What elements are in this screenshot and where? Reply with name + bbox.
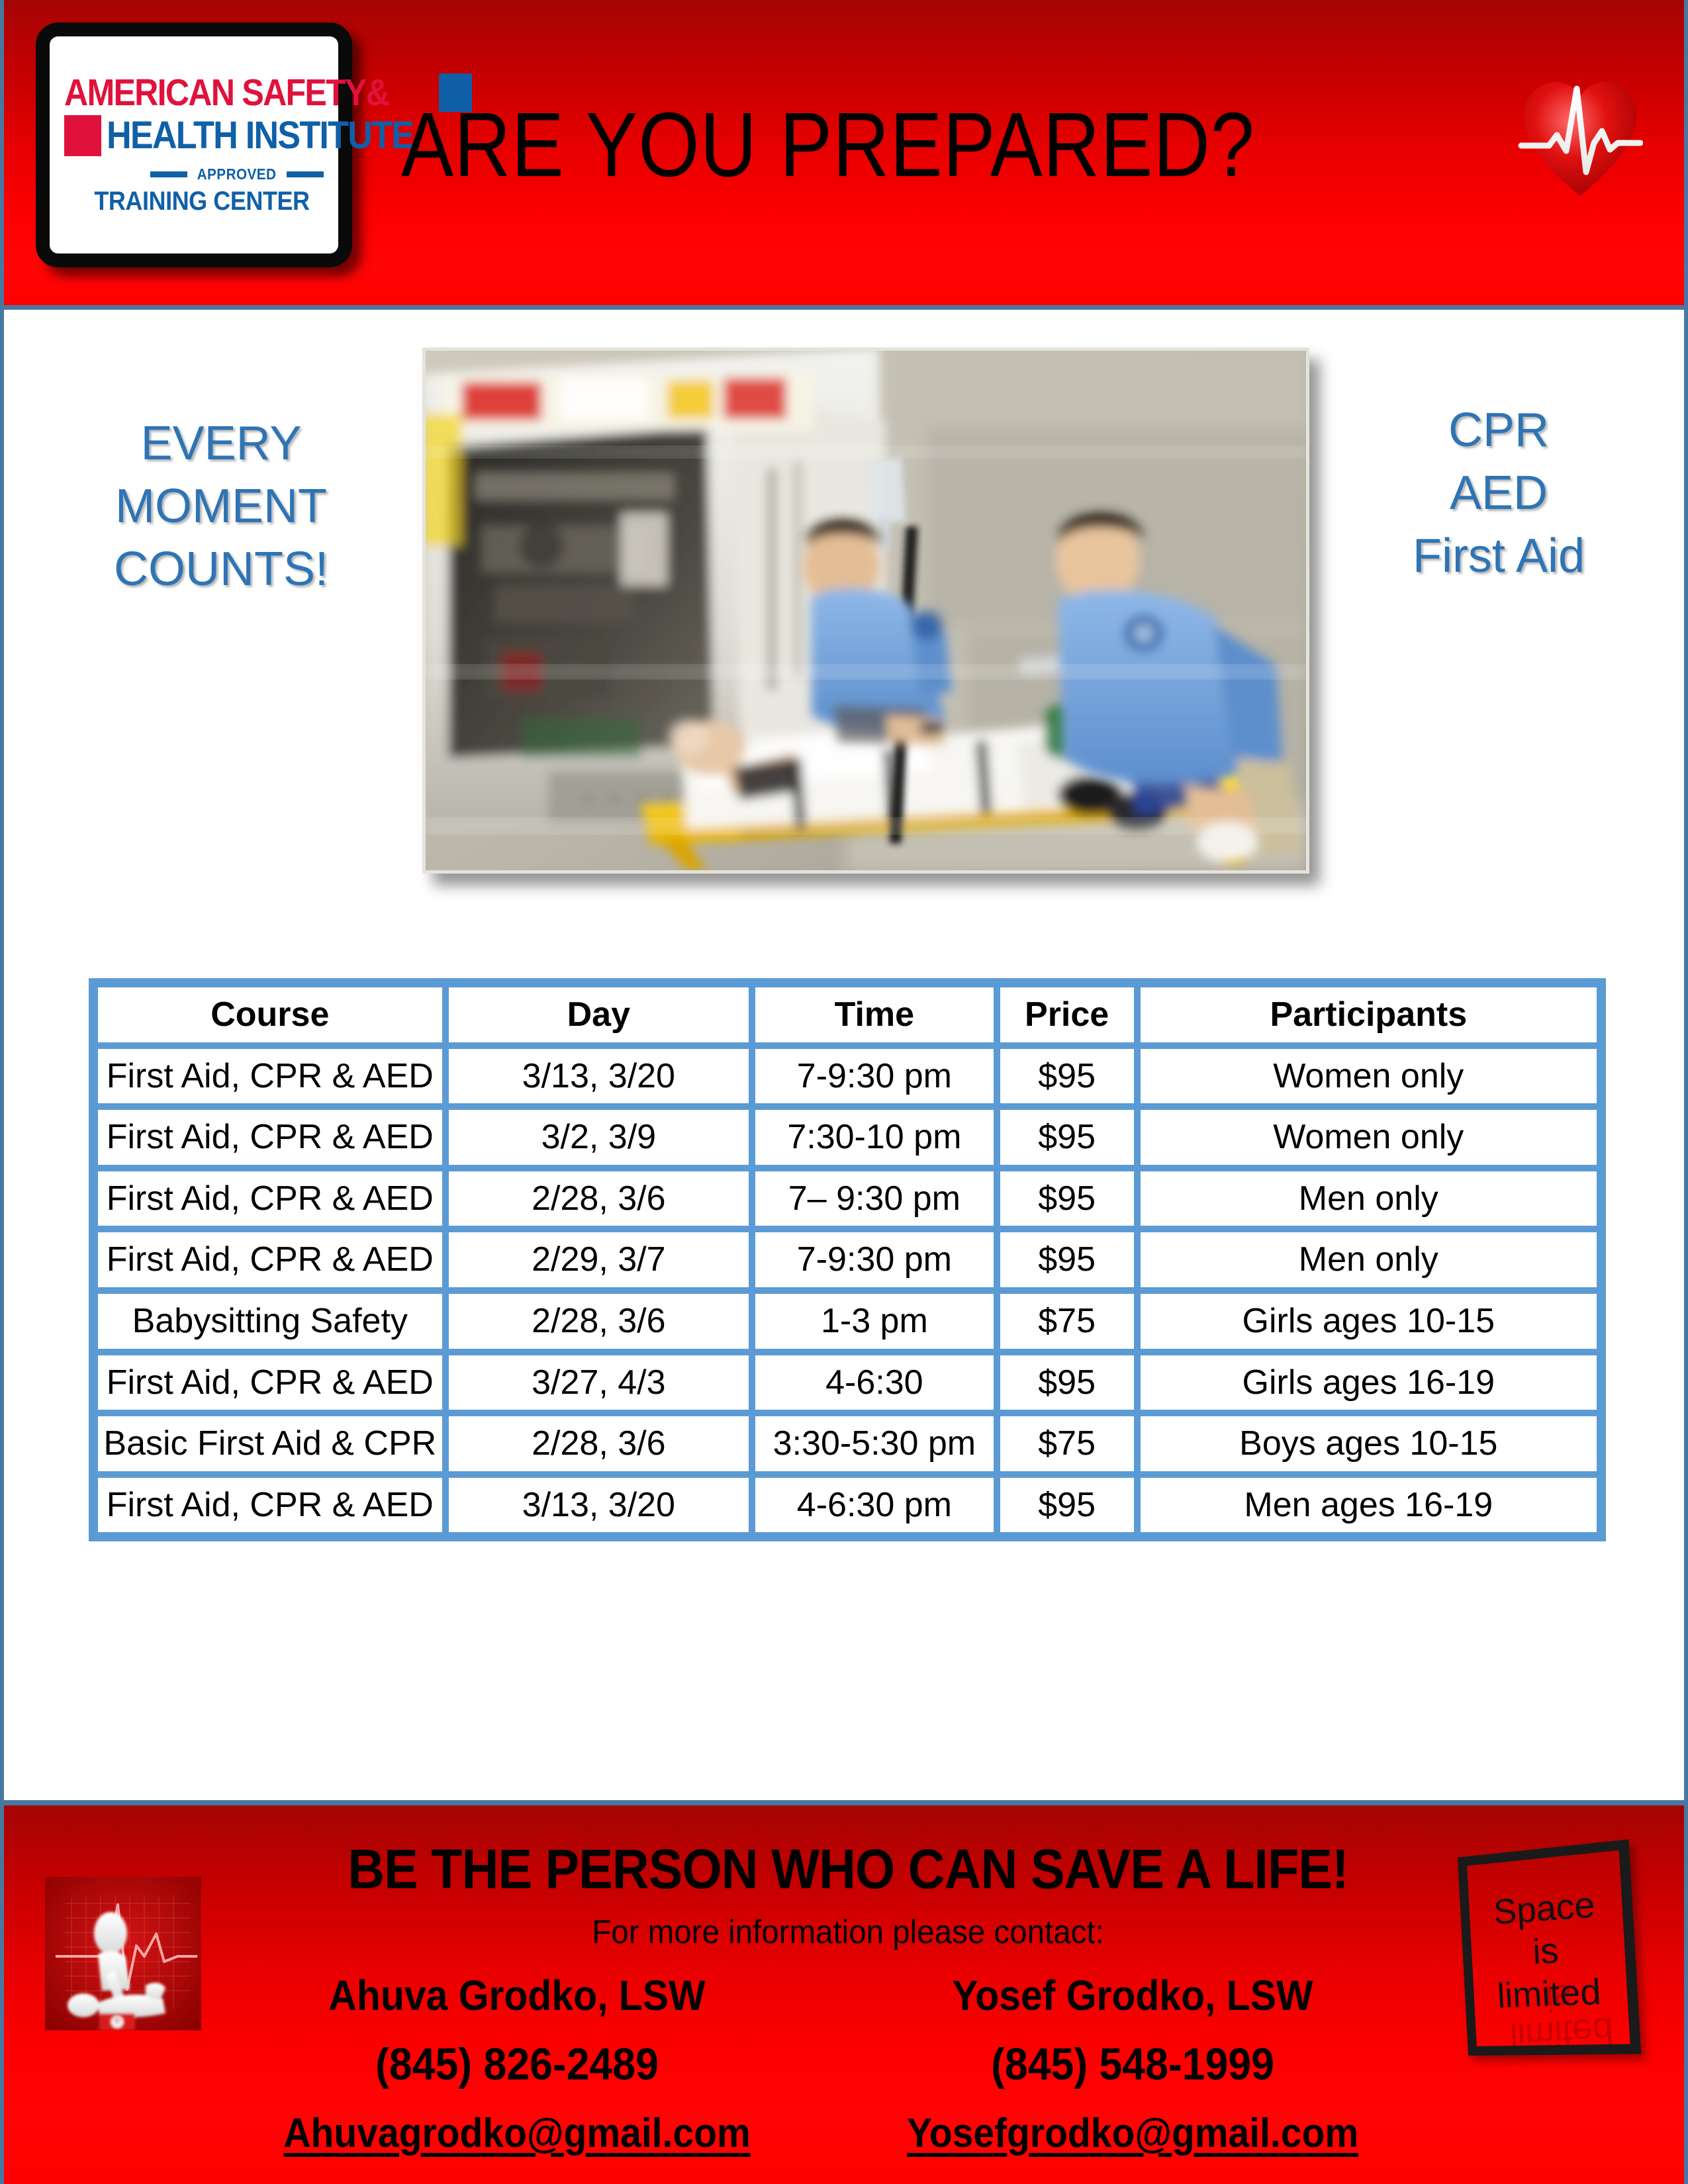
cell-day: 3/2, 3/9 <box>445 1107 752 1168</box>
cell-price: $95 <box>997 1352 1137 1414</box>
cell-participants: Boys ages 10-15 <box>1137 1413 1600 1475</box>
header-banner: AMERICAN SAFETY& HEALTH INSTITUTE APPROV… <box>4 0 1688 310</box>
cell-course: First Aid, CPR & AED <box>95 1229 445 1291</box>
table-row: First Aid, CPR & AED 3/2, 3/9 7:30-10 pm… <box>95 1107 1600 1168</box>
contact-card-ahuva: Ahuva Grodko, LSW (845) 826-2489 Ahuvagr… <box>242 1971 792 2157</box>
cell-course: First Aid, CPR & AED <box>95 1046 445 1107</box>
schedule-table-container: Course Day Time Price Participants First… <box>89 978 1606 1541</box>
cell-time: 7:30-10 pm <box>752 1107 997 1168</box>
cell-participants: Men ages 16-19 <box>1137 1475 1600 1536</box>
left-tagline: EVERY MOMENT COUNTS! <box>82 412 360 601</box>
logo-approved-text: APPROVED <box>197 165 277 183</box>
cell-price: $95 <box>997 1107 1137 1168</box>
cell-time: 3:30-5:30 pm <box>752 1413 997 1475</box>
space-is-limited-callout: Space is limited limited is <box>1456 1857 1655 2148</box>
cell-time: 1-3 pm <box>752 1291 997 1352</box>
space-reflect-line-2: is <box>1544 1978 1572 2016</box>
footer-headline: BE THE PERSON WHO CAN SAVE A LIFE! <box>71 1837 1624 1901</box>
table-row: Babysitting Safety 2/28, 3/6 1-3 pm $75 … <box>95 1291 1600 1352</box>
left-tagline-line-1: EVERY <box>82 412 360 475</box>
cell-participants: Girls ages 10-15 <box>1137 1291 1600 1352</box>
column-header-price: Price <box>997 984 1137 1046</box>
logo-rule-right-icon <box>287 171 324 177</box>
cell-price: $95 <box>997 1168 1137 1230</box>
cell-participants: Men only <box>1137 1229 1600 1291</box>
flyer-page: AMERICAN SAFETY& HEALTH INSTITUTE APPROV… <box>0 0 1688 2184</box>
cell-course: First Aid, CPR & AED <box>95 1352 445 1414</box>
cell-course: Basic First Aid & CPR <box>95 1413 445 1475</box>
cell-day: 2/28, 3/6 <box>445 1168 752 1230</box>
table-row: First Aid, CPR & AED 2/29, 3/7 7-9:30 pm… <box>95 1229 1600 1291</box>
cell-course: First Aid, CPR & AED <box>95 1107 445 1168</box>
footer-subline: For more information please contact: <box>46 1913 1650 1951</box>
cell-day: 3/13, 3/20 <box>445 1475 752 1536</box>
cell-participants: Women only <box>1137 1107 1600 1168</box>
space-box-reflection: limited is <box>1475 1960 1651 2056</box>
table-row: First Aid, CPR & AED 2/28, 3/6 7– 9:30 p… <box>95 1168 1600 1230</box>
column-header-time: Time <box>752 984 997 1046</box>
logo-training-center-text: TRAINING CENTER <box>73 187 314 216</box>
column-header-day: Day <box>445 984 752 1046</box>
contact-email-link[interactable]: Yosefgrodko@gmail.com <box>880 2110 1385 2157</box>
contact-phone[interactable]: (845) 548-1999 <box>880 2038 1385 2090</box>
cell-day: 2/29, 3/7 <box>445 1229 752 1291</box>
cell-course: Babysitting Safety <box>95 1291 445 1352</box>
logo-approved-row: APPROVED <box>60 165 328 183</box>
contacts-row: Ahuva Grodko, LSW (845) 826-2489 Ahuvagr… <box>242 1971 1407 2157</box>
cell-time: 4-6:30 pm <box>752 1475 997 1536</box>
cell-price: $75 <box>997 1413 1137 1475</box>
schedule-table: Course Day Time Price Participants First… <box>89 978 1606 1541</box>
logo-health-institute-text: HEALTH INSTITUTE <box>107 116 413 155</box>
left-tagline-line-3: COUNTS! <box>82 538 360 601</box>
cell-time: 4-6:30 <box>752 1352 997 1414</box>
logo-red-square-icon <box>64 115 101 156</box>
contact-name: Yosef Grodko, LSW <box>880 1971 1385 2020</box>
contact-phone[interactable]: (845) 826-2489 <box>264 2038 770 2090</box>
space-line-2: is <box>1532 1933 1560 1970</box>
ashi-logo: AMERICAN SAFETY& HEALTH INSTITUTE APPROV… <box>36 23 352 267</box>
right-course-list: CPR AED First Aid <box>1353 399 1644 588</box>
cell-price: $95 <box>997 1046 1137 1107</box>
cell-price: $95 <box>997 1475 1137 1536</box>
cell-day: 3/27, 4/3 <box>445 1352 752 1414</box>
table-row: First Aid, CPR & AED 3/13, 3/20 7-9:30 p… <box>95 1046 1600 1107</box>
footer-banner: BE THE PERSON WHO CAN SAVE A LIFE! For m… <box>4 1800 1688 2184</box>
page-title: ARE YOU PREPARED? <box>401 99 1289 191</box>
table-row: First Aid, CPR & AED 3/27, 4/3 4-6:30 $9… <box>95 1352 1600 1414</box>
main-content: EVERY MOMENT COUNTS! CPR AED First Aid <box>4 310 1688 1800</box>
course-label-aed: AED <box>1353 462 1644 525</box>
left-tagline-line-2: MOMENT <box>82 475 360 538</box>
course-label-cpr: CPR <box>1353 399 1644 462</box>
course-label-first-aid: First Aid <box>1353 525 1644 588</box>
logo-line-1: AMERICAN SAFETY& <box>60 73 328 112</box>
cell-participants: Women only <box>1137 1046 1600 1107</box>
space-reflect-line-3: limited <box>1509 2011 1615 2054</box>
heart-ekg-icon <box>1517 66 1643 205</box>
cell-day: 2/28, 3/6 <box>445 1413 752 1475</box>
cell-participants: Girls ages 16-19 <box>1137 1352 1600 1414</box>
cell-day: 3/13, 3/20 <box>445 1046 752 1107</box>
cell-participants: Men only <box>1137 1168 1600 1230</box>
logo-american-safety-text: AMERICAN SAFETY& <box>64 74 389 112</box>
contact-card-yosef: Yosef Grodko, LSW (845) 548-1999 Yosefgr… <box>858 1971 1407 2157</box>
table-header-row: Course Day Time Price Participants <box>95 984 1600 1046</box>
column-header-course: Course <box>95 984 445 1046</box>
table-row: First Aid, CPR & AED 3/13, 3/20 4-6:30 p… <box>95 1475 1600 1536</box>
cell-time: 7-9:30 pm <box>752 1046 997 1107</box>
space-line-1: Space <box>1493 1887 1596 1931</box>
emt-ambulance-photo <box>422 347 1309 874</box>
cell-time: 7– 9:30 pm <box>752 1168 997 1230</box>
cell-price: $95 <box>997 1229 1137 1291</box>
cell-time: 7-9:30 pm <box>752 1229 997 1291</box>
column-header-participants: Participants <box>1137 984 1600 1046</box>
contact-name: Ahuva Grodko, LSW <box>264 1971 770 2020</box>
logo-rule-left-icon <box>150 171 187 177</box>
logo-line-2: HEALTH INSTITUTE <box>60 115 328 156</box>
contact-email-link[interactable]: Ahuvagrodko@gmail.com <box>264 2110 770 2157</box>
cell-day: 2/28, 3/6 <box>445 1291 752 1352</box>
cell-price: $75 <box>997 1291 1137 1352</box>
cell-course: First Aid, CPR & AED <box>95 1475 445 1536</box>
table-row: Basic First Aid & CPR 2/28, 3/6 3:30-5:3… <box>95 1413 1600 1475</box>
cell-course: First Aid, CPR & AED <box>95 1168 445 1230</box>
